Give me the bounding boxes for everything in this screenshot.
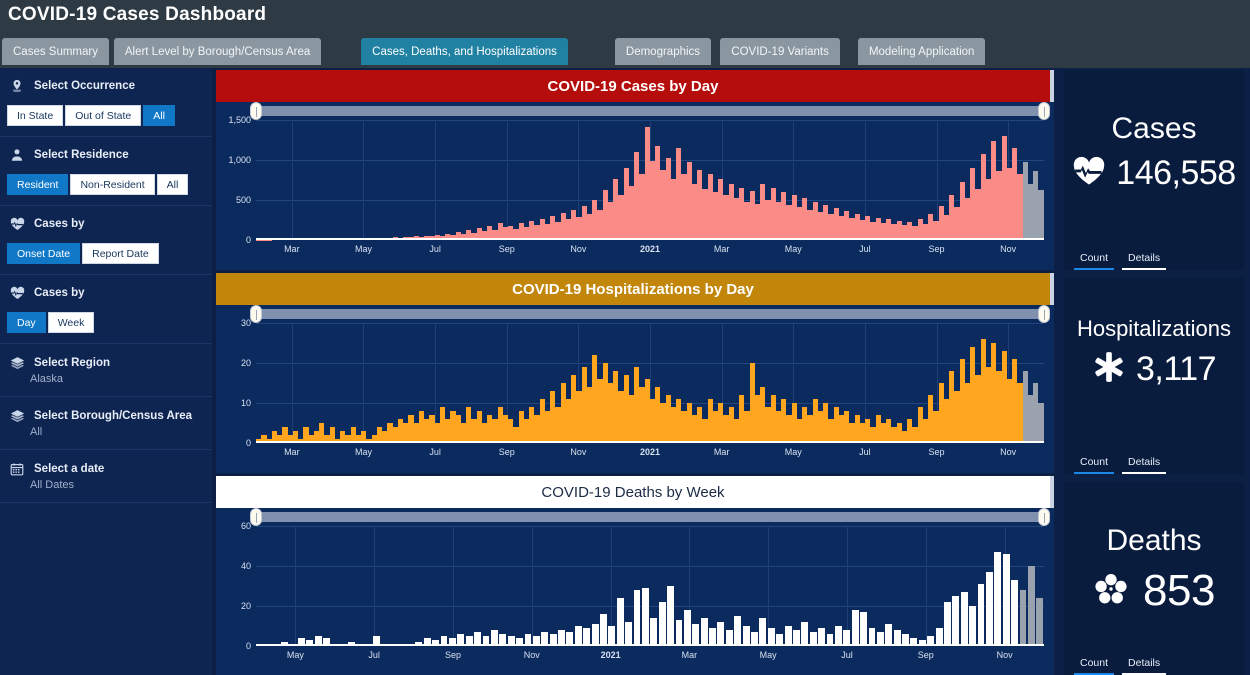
heart-pulse-icon bbox=[7, 215, 27, 233]
range-slider-handle-right[interactable] bbox=[1038, 102, 1050, 120]
x-axis-tick-label: Nov bbox=[997, 650, 1013, 660]
selector-select-region[interactable]: Select RegionAlaska bbox=[0, 344, 212, 397]
kpi-tab-details[interactable]: Details bbox=[1122, 252, 1166, 270]
kpi-card-cases: Cases146,558CountDetails bbox=[1064, 70, 1244, 270]
y-axis-tick-label: 30 bbox=[241, 318, 251, 328]
bar[interactable] bbox=[575, 626, 582, 646]
x-axis-tick-label: Sep bbox=[445, 650, 461, 660]
x-axis-tick-label: 2021 bbox=[640, 447, 660, 457]
selector-value: All Dates bbox=[0, 479, 212, 491]
bar[interactable] bbox=[1038, 190, 1043, 240]
filter-option-resident[interactable]: Resident bbox=[7, 174, 68, 195]
chart-range-slider[interactable] bbox=[256, 309, 1044, 319]
y-axis-tick-label: 60 bbox=[241, 521, 251, 531]
x-axis-tick-label: Sep bbox=[499, 244, 515, 254]
bar[interactable] bbox=[667, 586, 674, 646]
bar[interactable] bbox=[952, 596, 959, 646]
filter-option-all[interactable]: All bbox=[143, 105, 175, 126]
filter-group-label: Cases by bbox=[34, 287, 85, 299]
filter-sidebar: Select OccurrenceIn StateOut of StateAll… bbox=[0, 68, 212, 675]
selector-label: Select Region bbox=[34, 357, 110, 369]
chart-panel-hospitalizations: COVID-19 Hospitalizations by Day0102030M… bbox=[216, 273, 1054, 473]
bar[interactable] bbox=[650, 618, 657, 646]
y-axis-tick-label: 0 bbox=[246, 438, 251, 448]
kpi-column: Cases146,558CountDetailsHospitalizations… bbox=[1058, 68, 1250, 675]
layers-icon bbox=[7, 407, 27, 425]
chart-title: COVID-19 Cases by Day bbox=[216, 70, 1054, 102]
y-axis-tick-label: 20 bbox=[241, 601, 251, 611]
calendar-icon bbox=[7, 460, 27, 478]
chart-range-slider[interactable] bbox=[256, 106, 1044, 116]
bar[interactable] bbox=[860, 612, 867, 646]
bar[interactable] bbox=[1038, 403, 1043, 443]
flower-icon bbox=[1093, 572, 1129, 611]
kpi-value: 146,558 bbox=[1116, 154, 1235, 193]
chart-range-slider[interactable] bbox=[256, 512, 1044, 522]
x-axis-tick-label: Nov bbox=[570, 447, 586, 457]
bar[interactable] bbox=[608, 626, 615, 646]
kpi-value: 3,117 bbox=[1136, 350, 1216, 389]
kpi-card-deaths: Deaths853CountDetails bbox=[1064, 482, 1244, 675]
bar[interactable] bbox=[717, 622, 724, 646]
bar[interactable] bbox=[986, 572, 993, 646]
filter-option-onset-date[interactable]: Onset Date bbox=[7, 243, 80, 264]
selector-value: All bbox=[0, 426, 212, 438]
x-axis-tick-label: May bbox=[760, 650, 777, 660]
bar[interactable] bbox=[994, 552, 1001, 646]
filter-option-non-resident[interactable]: Non-Resident bbox=[70, 174, 154, 195]
x-axis-tick-label: Nov bbox=[570, 244, 586, 254]
x-axis-tick-label: May bbox=[785, 447, 802, 457]
range-slider-handle-left[interactable] bbox=[250, 102, 262, 120]
tab-modeling-application[interactable]: Modeling Application bbox=[858, 38, 986, 65]
x-axis-tick-label: 2021 bbox=[640, 244, 660, 254]
x-axis-tick-label: Sep bbox=[929, 244, 945, 254]
filter-option-out-of-state[interactable]: Out of State bbox=[65, 105, 141, 126]
kpi-tab-count[interactable]: Count bbox=[1074, 252, 1114, 270]
x-axis-tick-label: Sep bbox=[929, 447, 945, 457]
x-axis-tick-label: Nov bbox=[1000, 447, 1016, 457]
bar[interactable] bbox=[1020, 590, 1027, 646]
kpi-tab-count[interactable]: Count bbox=[1074, 657, 1114, 675]
kpi-label: Deaths bbox=[1064, 524, 1244, 558]
kpi-tab-row: CountDetails bbox=[1064, 456, 1244, 474]
x-axis-tick-label: Jul bbox=[859, 447, 871, 457]
selector-label: Select a date bbox=[34, 463, 104, 475]
tab-demographics[interactable]: Demographics bbox=[615, 38, 711, 65]
plot-canvas: 0204060MayJulSepNov2021MarMayJulSepNov bbox=[256, 526, 1044, 646]
kpi-tab-details[interactable]: Details bbox=[1122, 456, 1166, 474]
filter-group-label: Select Occurrence bbox=[34, 80, 135, 92]
bar[interactable] bbox=[743, 626, 750, 646]
y-axis-tick-label: 20 bbox=[241, 358, 251, 368]
bar[interactable] bbox=[634, 590, 641, 646]
range-slider-handle-right[interactable] bbox=[1038, 305, 1050, 323]
selector-value: Alaska bbox=[0, 373, 212, 385]
layers-icon bbox=[7, 354, 27, 372]
bar[interactable] bbox=[885, 624, 892, 646]
plot-canvas: 0102030MarMayJulSepNov2021MarMayJulSepNo… bbox=[256, 323, 1044, 443]
x-axis-tick-label: May bbox=[355, 447, 372, 457]
bar[interactable] bbox=[676, 620, 683, 646]
kpi-tab-row: CountDetails bbox=[1064, 252, 1244, 270]
bar[interactable] bbox=[684, 610, 691, 646]
x-axis-line bbox=[256, 441, 1044, 443]
bar[interactable] bbox=[961, 592, 968, 646]
kpi-tab-row: CountDetails bbox=[1064, 657, 1244, 675]
kpi-label: Cases bbox=[1064, 112, 1244, 146]
kpi-label: Hospitalizations bbox=[1064, 316, 1244, 342]
x-axis-tick-label: Jul bbox=[859, 244, 871, 254]
kpi-card-hospitalizations: Hospitalizations3,117CountDetails bbox=[1064, 278, 1244, 474]
selector-select-borough-census-area[interactable]: Select Borough/Census AreaAll bbox=[0, 397, 212, 450]
y-axis-tick-label: 40 bbox=[241, 561, 251, 571]
selector-select-a-date[interactable]: Select a dateAll Dates bbox=[0, 450, 212, 503]
bar[interactable] bbox=[759, 618, 766, 646]
filter-group-label: Cases by bbox=[34, 218, 85, 230]
filter-option-all[interactable]: All bbox=[157, 174, 189, 195]
chart-panel-cases: COVID-19 Cases by Day05001,0001,500MarMa… bbox=[216, 70, 1054, 270]
kpi-tab-details[interactable]: Details bbox=[1122, 657, 1166, 675]
x-axis-tick-label: May bbox=[287, 650, 304, 660]
star-of-life-icon bbox=[1092, 350, 1126, 389]
kpi-value: 853 bbox=[1143, 566, 1215, 616]
tab-cases-summary[interactable]: Cases Summary bbox=[2, 38, 109, 65]
chart-plot-area: 05001,0001,500MarMayJulSepNov2021MarMayJ… bbox=[216, 102, 1054, 270]
x-axis-tick-label: Sep bbox=[918, 650, 934, 660]
map-pin-icon bbox=[7, 77, 27, 95]
x-axis-tick-label: May bbox=[785, 244, 802, 254]
filter-option-day[interactable]: Day bbox=[7, 312, 46, 333]
x-axis-tick-label: Jul bbox=[841, 650, 853, 660]
bar[interactable] bbox=[1011, 580, 1018, 646]
bar[interactable] bbox=[944, 602, 951, 646]
bar[interactable] bbox=[978, 584, 985, 646]
charts-area: COVID-19 Cases by Day05001,0001,500MarMa… bbox=[212, 68, 1058, 675]
filter-option-week[interactable]: Week bbox=[48, 312, 95, 333]
segmented-control: DayWeek bbox=[0, 312, 212, 333]
x-axis-tick-label: 2021 bbox=[601, 650, 621, 660]
x-axis-tick-label: May bbox=[355, 244, 372, 254]
bar[interactable] bbox=[1028, 566, 1035, 646]
filter-group-cases-by: Cases byOnset DateReport Date bbox=[0, 206, 212, 275]
bar[interactable] bbox=[801, 622, 808, 646]
heart-pulse-icon bbox=[7, 284, 27, 302]
x-axis-tick-label: Jul bbox=[429, 244, 441, 254]
segmented-control: ResidentNon-ResidentAll bbox=[0, 174, 212, 195]
chart-plot-area: 0102030MarMayJulSepNov2021MarMayJulSepNo… bbox=[216, 305, 1054, 473]
filter-option-in-state[interactable]: In State bbox=[7, 105, 63, 126]
range-slider-handle-left[interactable] bbox=[250, 305, 262, 323]
plot-canvas: 05001,0001,500MarMayJulSepNov2021MarMayJ… bbox=[256, 120, 1044, 240]
x-axis-tick-label: Mar bbox=[714, 447, 730, 457]
x-axis-tick-label: Sep bbox=[499, 447, 515, 457]
main-tab-strip: Cases SummaryAlert Level by Borough/Cens… bbox=[0, 33, 1250, 68]
filter-group-select-occurrence: Select OccurrenceIn StateOut of StateAll bbox=[0, 68, 212, 137]
y-axis-tick-label: 0 bbox=[246, 235, 251, 245]
bar[interactable] bbox=[969, 606, 976, 646]
segmented-control: Onset DateReport Date bbox=[0, 243, 212, 264]
filter-group-label: Select Residence bbox=[34, 149, 129, 161]
x-axis-line bbox=[256, 238, 1044, 240]
y-axis-tick-label: 1,000 bbox=[228, 155, 251, 165]
filter-option-report-date[interactable]: Report Date bbox=[82, 243, 159, 264]
bar[interactable] bbox=[692, 624, 699, 646]
filter-group-cases-by: Cases byDayWeek bbox=[0, 275, 212, 344]
segmented-control: In StateOut of StateAll bbox=[0, 105, 212, 126]
range-slider-handle-left[interactable] bbox=[250, 508, 262, 526]
x-axis-tick-label: Mar bbox=[284, 244, 300, 254]
x-axis-tick-label: Jul bbox=[368, 650, 380, 660]
page-title: COVID-19 Cases Dashboard bbox=[8, 4, 266, 26]
bar[interactable] bbox=[785, 626, 792, 646]
bar[interactable] bbox=[617, 598, 624, 646]
bar[interactable] bbox=[835, 626, 842, 646]
tab-alert-level-by-borough-census-area[interactable]: Alert Level by Borough/Census Area bbox=[114, 38, 321, 65]
bar[interactable] bbox=[734, 616, 741, 646]
y-axis-tick-label: 0 bbox=[246, 641, 251, 651]
x-axis-tick-label: Mar bbox=[714, 244, 730, 254]
range-slider-handle-right[interactable] bbox=[1038, 508, 1050, 526]
y-axis-tick-label: 1,500 bbox=[228, 115, 251, 125]
bar-series bbox=[256, 526, 1044, 646]
filter-group-select-residence: Select ResidenceResidentNon-ResidentAll bbox=[0, 137, 212, 206]
bar-series bbox=[256, 120, 1044, 240]
tab-covid-19-variants[interactable]: COVID-19 Variants bbox=[720, 38, 840, 65]
bar[interactable] bbox=[659, 602, 666, 646]
x-axis-tick-label: Nov bbox=[1000, 244, 1016, 254]
y-axis-tick-label: 10 bbox=[241, 398, 251, 408]
bar[interactable] bbox=[701, 618, 708, 646]
x-axis-tick-label: Jul bbox=[429, 447, 441, 457]
kpi-tab-count[interactable]: Count bbox=[1074, 456, 1114, 474]
x-axis-tick-label: Nov bbox=[524, 650, 540, 660]
bar[interactable] bbox=[600, 614, 607, 646]
x-axis-line bbox=[256, 644, 1044, 646]
bar[interactable] bbox=[1036, 598, 1043, 646]
bar[interactable] bbox=[1003, 554, 1010, 646]
bar[interactable] bbox=[642, 588, 649, 646]
person-icon bbox=[7, 146, 27, 164]
chart-title: COVID-19 Deaths by Week bbox=[216, 476, 1054, 508]
chart-panel-deaths: COVID-19 Deaths by Week0204060MayJulSepN… bbox=[216, 476, 1054, 675]
y-axis-tick-label: 500 bbox=[236, 195, 251, 205]
x-axis-tick-label: Mar bbox=[682, 650, 698, 660]
heart-pulse-icon bbox=[1072, 156, 1106, 191]
tab-cases-deaths-and-hospitalizations[interactable]: Cases, Deaths, and Hospitalizations bbox=[361, 38, 568, 65]
selector-label: Select Borough/Census Area bbox=[34, 410, 192, 422]
app-header: COVID-19 Cases Dashboard bbox=[0, 0, 1250, 33]
bar[interactable] bbox=[592, 624, 599, 646]
bar[interactable] bbox=[625, 622, 632, 646]
bar[interactable] bbox=[852, 610, 859, 646]
chart-plot-area: 0204060MayJulSepNov2021MarMayJulSepNov bbox=[216, 508, 1054, 675]
chart-title: COVID-19 Hospitalizations by Day bbox=[216, 273, 1054, 305]
x-axis-tick-label: Mar bbox=[284, 447, 300, 457]
bar-series bbox=[256, 323, 1044, 443]
